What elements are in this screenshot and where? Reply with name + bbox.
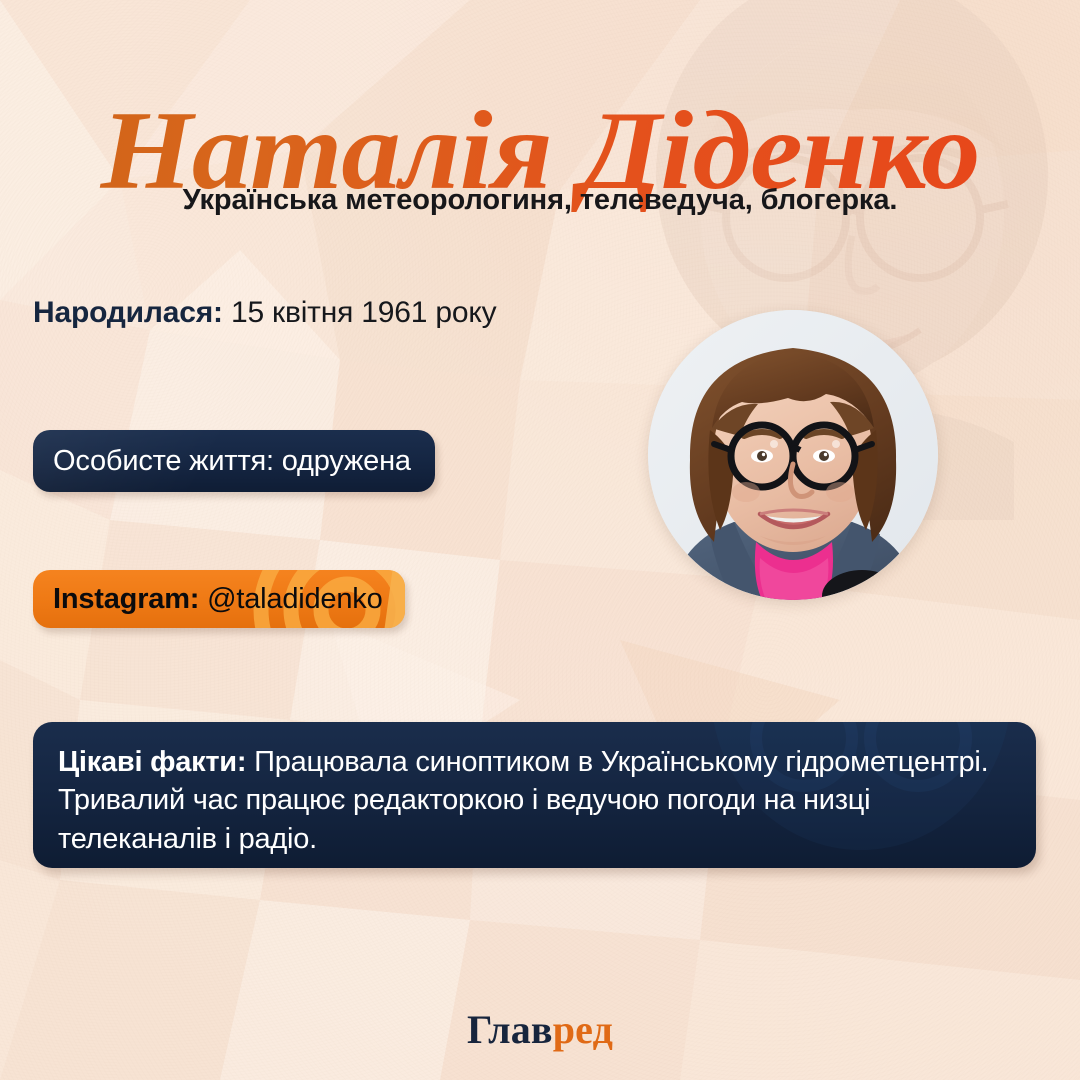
interesting-facts-label: Цікаві факти: <box>58 746 246 778</box>
interesting-facts-card: Цікаві факти: Працювала синоптиком в Укр… <box>33 722 1036 868</box>
brand-logo-part-one: Глав <box>467 1007 553 1052</box>
instagram-text: Instagram: @taladidenko <box>53 583 383 616</box>
infographic-poster: Наталія Діденко Українська метеорологиня… <box>0 0 1080 1080</box>
birth-date-value: 15 квітня 1961 року <box>231 296 496 329</box>
interesting-facts-text: Цікаві факти: Працювала синоптиком в Укр… <box>58 743 1006 858</box>
instagram-label: Instagram: <box>53 583 199 615</box>
poster-content: Наталія Діденко Українська метеорологиня… <box>0 0 1080 1080</box>
page-subtitle: Українська метеорологиня, телеведуча, бл… <box>0 184 1080 217</box>
personal-life-badge: Особисте життя: одружена <box>33 430 435 492</box>
instagram-handle[interactable]: @taladidenko <box>207 583 382 615</box>
brand-logo-part-two: ред <box>553 1007 613 1052</box>
instagram-badge[interactable]: Instagram: @taladidenko <box>33 570 405 628</box>
brand-logo[interactable]: Главред <box>0 1006 1080 1053</box>
birth-date-label: Народилася: <box>33 296 223 329</box>
personal-life-text: Особисте життя: одружена <box>53 445 411 478</box>
portrait-photo <box>648 310 938 600</box>
birth-date-line: Народилася: 15 квітня 1961 року <box>33 296 496 330</box>
